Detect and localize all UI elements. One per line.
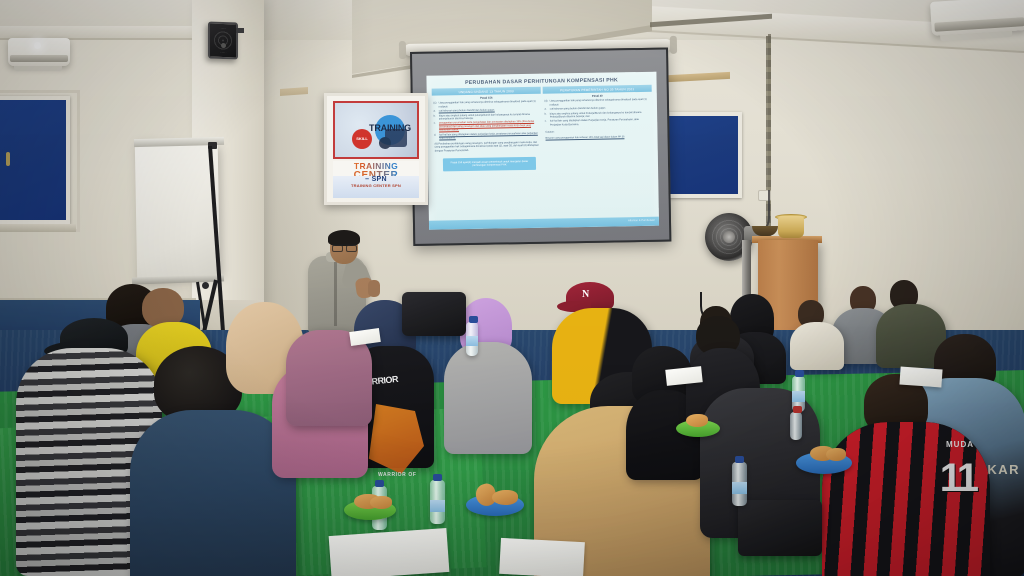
handout-paper bbox=[499, 538, 585, 576]
slide-paragraph: (5) Perubahan perhitungan uang pesangon,… bbox=[433, 139, 542, 153]
photo-scene: PERUBAHAN DASAR PERHITUNGAN KOMPENSASI P… bbox=[0, 0, 1024, 576]
poster-footer: – SPN TRAINING CENTER SPN bbox=[333, 176, 419, 198]
shirt-placket bbox=[334, 260, 337, 326]
speaker-grill bbox=[214, 28, 232, 54]
poster-image: TRAINING SKILL bbox=[333, 101, 419, 159]
water-bottle bbox=[790, 412, 802, 440]
bottle-label bbox=[466, 336, 478, 346]
poster-skill-badge: SKILL bbox=[352, 129, 372, 149]
bottle-label bbox=[792, 391, 805, 402]
window-sill bbox=[0, 224, 76, 232]
torso bbox=[444, 342, 532, 454]
flipchart-paper bbox=[135, 140, 220, 282]
window-handle[interactable] bbox=[6, 152, 10, 166]
bullet-number: (4) bbox=[544, 100, 548, 107]
bullet-number: b. bbox=[545, 112, 549, 119]
slide-column-right: PERATURAN PEMERINTAH NO 35 TAHUN 2021 Pa… bbox=[543, 85, 653, 170]
bullet-number: a. bbox=[434, 110, 438, 114]
woven-basket bbox=[778, 216, 804, 238]
bullet-number: (1) bbox=[433, 102, 437, 109]
ac-indicator-light bbox=[34, 42, 41, 49]
bullet-number: b. bbox=[434, 114, 438, 121]
speaker-driver bbox=[221, 43, 226, 48]
training-poster: TRAINING SKILL TRAINING CENTER – SPN TRA… bbox=[324, 93, 428, 205]
water-bottle bbox=[466, 322, 478, 356]
bottle-cap bbox=[795, 370, 804, 377]
backpack bbox=[402, 292, 466, 336]
bullet-text: penggantian perumahan serta pengobatan d… bbox=[439, 120, 540, 132]
slide-note-text: Besaran uang penggantian hak sebesar 15%… bbox=[545, 135, 624, 139]
window-right bbox=[664, 112, 742, 198]
poster-org: – SPN bbox=[333, 176, 419, 183]
poster-subtitle: TRAINING CENTER SPN bbox=[333, 183, 419, 188]
slide-callout: Pasal 156 ayat(4) menjadi acuan pemerint… bbox=[443, 157, 536, 171]
bottle-cap bbox=[375, 480, 384, 487]
speaker-bracket bbox=[236, 28, 244, 33]
slide-note: Besaran uang penggantian hak sebesar 15%… bbox=[543, 132, 652, 140]
slide-footer-text: Alterkon & Pembelaan bbox=[628, 219, 655, 222]
water-bottle bbox=[732, 462, 747, 506]
presenter-hand bbox=[368, 280, 380, 297]
torso: MUDA 11 bbox=[822, 422, 990, 576]
fried-snack bbox=[492, 490, 518, 505]
fried-snack bbox=[826, 448, 846, 461]
slide-column-left: UNDANG-UNDANG 13 TAHUN 2003 Pasal 156 (1… bbox=[432, 87, 542, 172]
bottle-cap bbox=[469, 316, 478, 323]
cap-logo: N bbox=[582, 289, 589, 300]
ac-vent bbox=[934, 17, 1024, 32]
ac-vent bbox=[10, 55, 68, 62]
bullet-number: c. bbox=[545, 120, 549, 127]
slide-columns: UNDANG-UNDANG 13 TAHUN 2003 Pasal 156 (1… bbox=[432, 85, 653, 171]
jersey-name: MUDA bbox=[946, 440, 974, 449]
presentation-slide: PERUBAHAN DASAR PERHITUNGAN KOMPENSASI P… bbox=[426, 72, 659, 230]
handout-paper bbox=[329, 528, 450, 576]
glasses-icon bbox=[332, 244, 357, 249]
projector-screen: PERUBAHAN DASAR PERHITUNGAN KOMPENSASI P… bbox=[410, 47, 671, 245]
bottle-label bbox=[732, 482, 747, 494]
handout-paper bbox=[899, 367, 942, 388]
ac-lip bbox=[14, 66, 62, 71]
air-conditioner-left bbox=[8, 38, 70, 66]
flipchart-knob[interactable] bbox=[202, 282, 209, 289]
bottle-cap bbox=[735, 456, 744, 463]
bullet-number: a. bbox=[544, 108, 548, 112]
jacket-subtext: WARRIOR OF bbox=[378, 472, 417, 478]
jacket-graphic bbox=[364, 404, 424, 474]
wall-speaker bbox=[208, 21, 238, 59]
bottle-cap bbox=[433, 474, 442, 481]
air-conditioner-right bbox=[930, 0, 1024, 36]
bottle-label bbox=[430, 500, 445, 512]
fried-snack bbox=[370, 496, 392, 509]
torso bbox=[790, 322, 844, 370]
bullet-number: c. bbox=[434, 122, 438, 132]
fried-snack bbox=[686, 414, 708, 427]
bottle-cap bbox=[793, 406, 802, 413]
camera-bag bbox=[738, 500, 822, 556]
bullet-number: d. bbox=[434, 133, 438, 140]
water-bottle bbox=[430, 480, 445, 524]
window-left bbox=[0, 96, 70, 224]
jersey-number: 11 bbox=[940, 456, 976, 501]
